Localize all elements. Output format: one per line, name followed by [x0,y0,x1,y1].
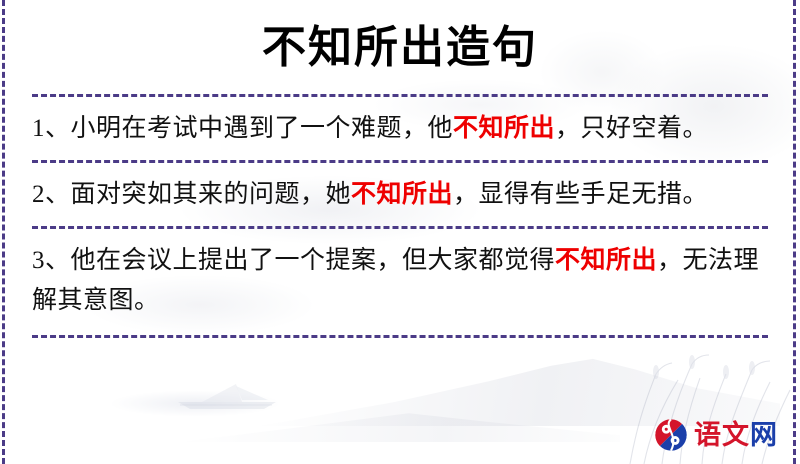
sentence-3-text-before: 3、他在会议上提出了一个提案，但大家都觉得 [32,247,555,274]
page-border-right-dashed [793,0,796,464]
sentence-2-idiom: 不知所出 [351,181,453,208]
sentence-1-text-after: ，只好空着。 [555,115,708,142]
worksheet-page: 不知所出造句 1、小明在考试中遇到了一个难题，他不知所出，只好空着。 2、面对突… [0,0,800,464]
divider-dashed-4 [32,335,768,338]
example-sentence-2: 2、面对突如其来的问题，她不知所出，显得有些手足无措。 [32,163,768,226]
content-area: 不知所出造句 1、小明在考试中遇到了一个难题，他不知所出，只好空着。 2、面对突… [0,0,800,464]
site-logo-text-red: 语文 [694,420,750,451]
sentence-1-idiom: 不知所出 [453,115,555,142]
site-logo-text: 语文网 [694,422,778,449]
site-logo-text-blue: 网 [750,420,778,451]
example-sentence-3: 3、他在会议上提出了一个提案，但大家都觉得不知所出，无法理解其意图。 [32,229,768,335]
sentence-3-idiom: 不知所出 [555,247,657,274]
sentence-1-text-before: 1、小明在考试中遇到了一个难题，他 [32,115,453,142]
site-logo[interactable]: 语文网 [654,418,778,452]
page-border-left-dashed [2,0,5,464]
yinyang-circle-icon [654,418,688,452]
sentence-2-text-after: ，显得有些手足无措。 [453,181,708,208]
page-title: 不知所出造句 [32,0,768,74]
sentence-2-text-before: 2、面对突如其来的问题，她 [32,181,351,208]
example-sentence-1: 1、小明在考试中遇到了一个难题，他不知所出，只好空着。 [32,97,768,160]
